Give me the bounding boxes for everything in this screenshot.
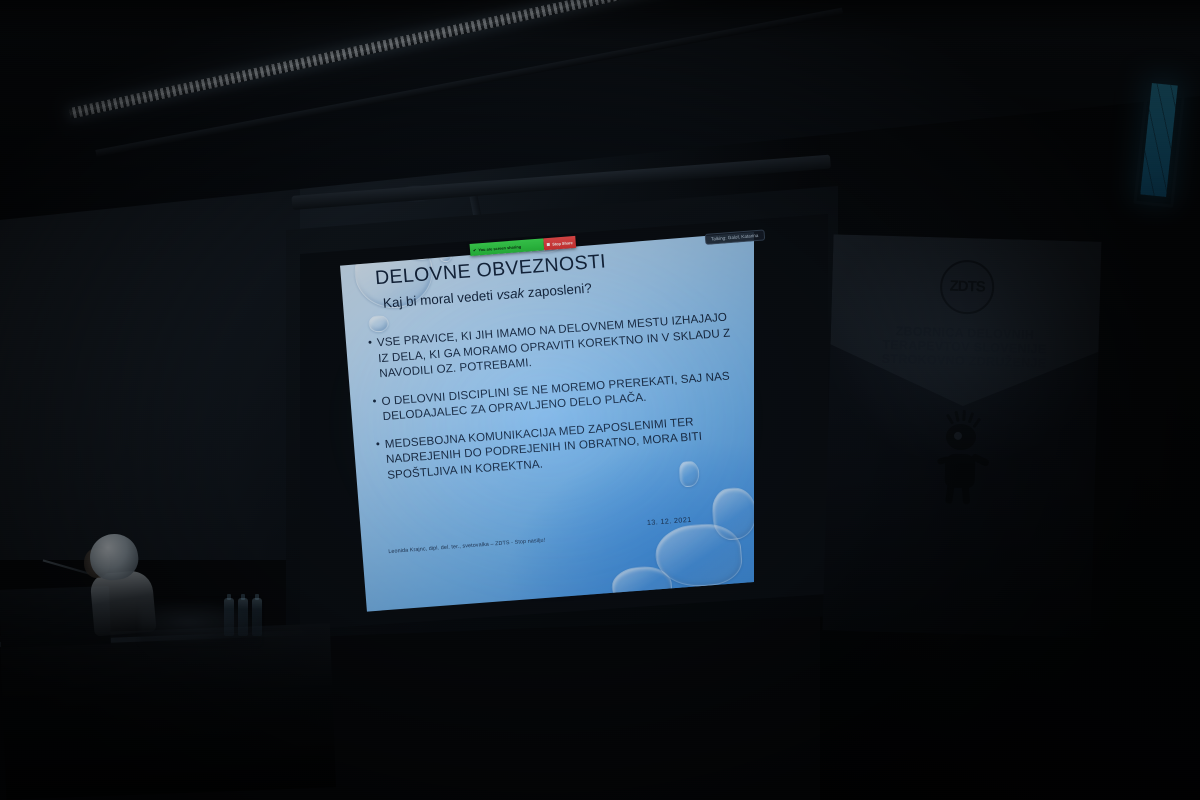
poster-glow bbox=[823, 234, 1102, 637]
sharing-status-label: You are screen sharing bbox=[478, 244, 521, 252]
room-scene: DELOVNE OBVEZNOSTI Kaj bi moral vedeti v… bbox=[0, 0, 1200, 800]
bullet-marker-icon: • bbox=[368, 336, 375, 383]
check-icon: ✔ bbox=[473, 247, 477, 252]
bottle-icon bbox=[238, 598, 248, 636]
stop-share-label: Stop Share bbox=[552, 240, 573, 247]
bullet-marker-icon: • bbox=[375, 437, 382, 484]
wall-poster: ZDTS ZBORNICA DELOVNIH TERAPEVTOV SLOVEN… bbox=[823, 234, 1102, 637]
stop-square-icon bbox=[547, 242, 550, 245]
bullet-marker-icon: • bbox=[372, 394, 378, 425]
stop-share-button[interactable]: Stop Share bbox=[544, 236, 576, 250]
slide-footer-credit: Leonida Krajnc, dipl. del. ter., svetova… bbox=[388, 534, 598, 555]
presenter-body bbox=[89, 569, 156, 636]
slide-subtitle-emphasis: vsak bbox=[496, 285, 525, 302]
slide-date: 13. 12. 2021 bbox=[647, 515, 692, 527]
talking-indicator-label: Talking: Galof, Katarina bbox=[711, 233, 759, 242]
bottle-icon bbox=[224, 598, 234, 636]
slide-bullet-list: • VSE PRAVICE, KI JIH IMAMO NA DELOVNEM … bbox=[368, 309, 749, 496]
bottle-icon bbox=[252, 598, 262, 636]
presenter-desk bbox=[0, 623, 336, 800]
slide-bullet-item: • MEDSEBOJNA KOMUNIKACIJA MED ZAPOSLENIM… bbox=[375, 410, 748, 484]
slide-bullet-text: MEDSEBOJNA KOMUNIKACIJA MED ZAPOSLENIMI … bbox=[384, 410, 748, 483]
slide-surface: DELOVNE OBVEZNOSTI Kaj bi moral vedeti v… bbox=[336, 232, 754, 614]
projected-slide: DELOVNE OBVEZNOSTI Kaj bi moral vedeti v… bbox=[336, 232, 754, 614]
water-bottles bbox=[224, 598, 270, 638]
slide-subtitle-part2: zaposleni? bbox=[524, 280, 593, 300]
slide-subtitle-part1: Kaj bi moral vedeti bbox=[382, 287, 497, 310]
